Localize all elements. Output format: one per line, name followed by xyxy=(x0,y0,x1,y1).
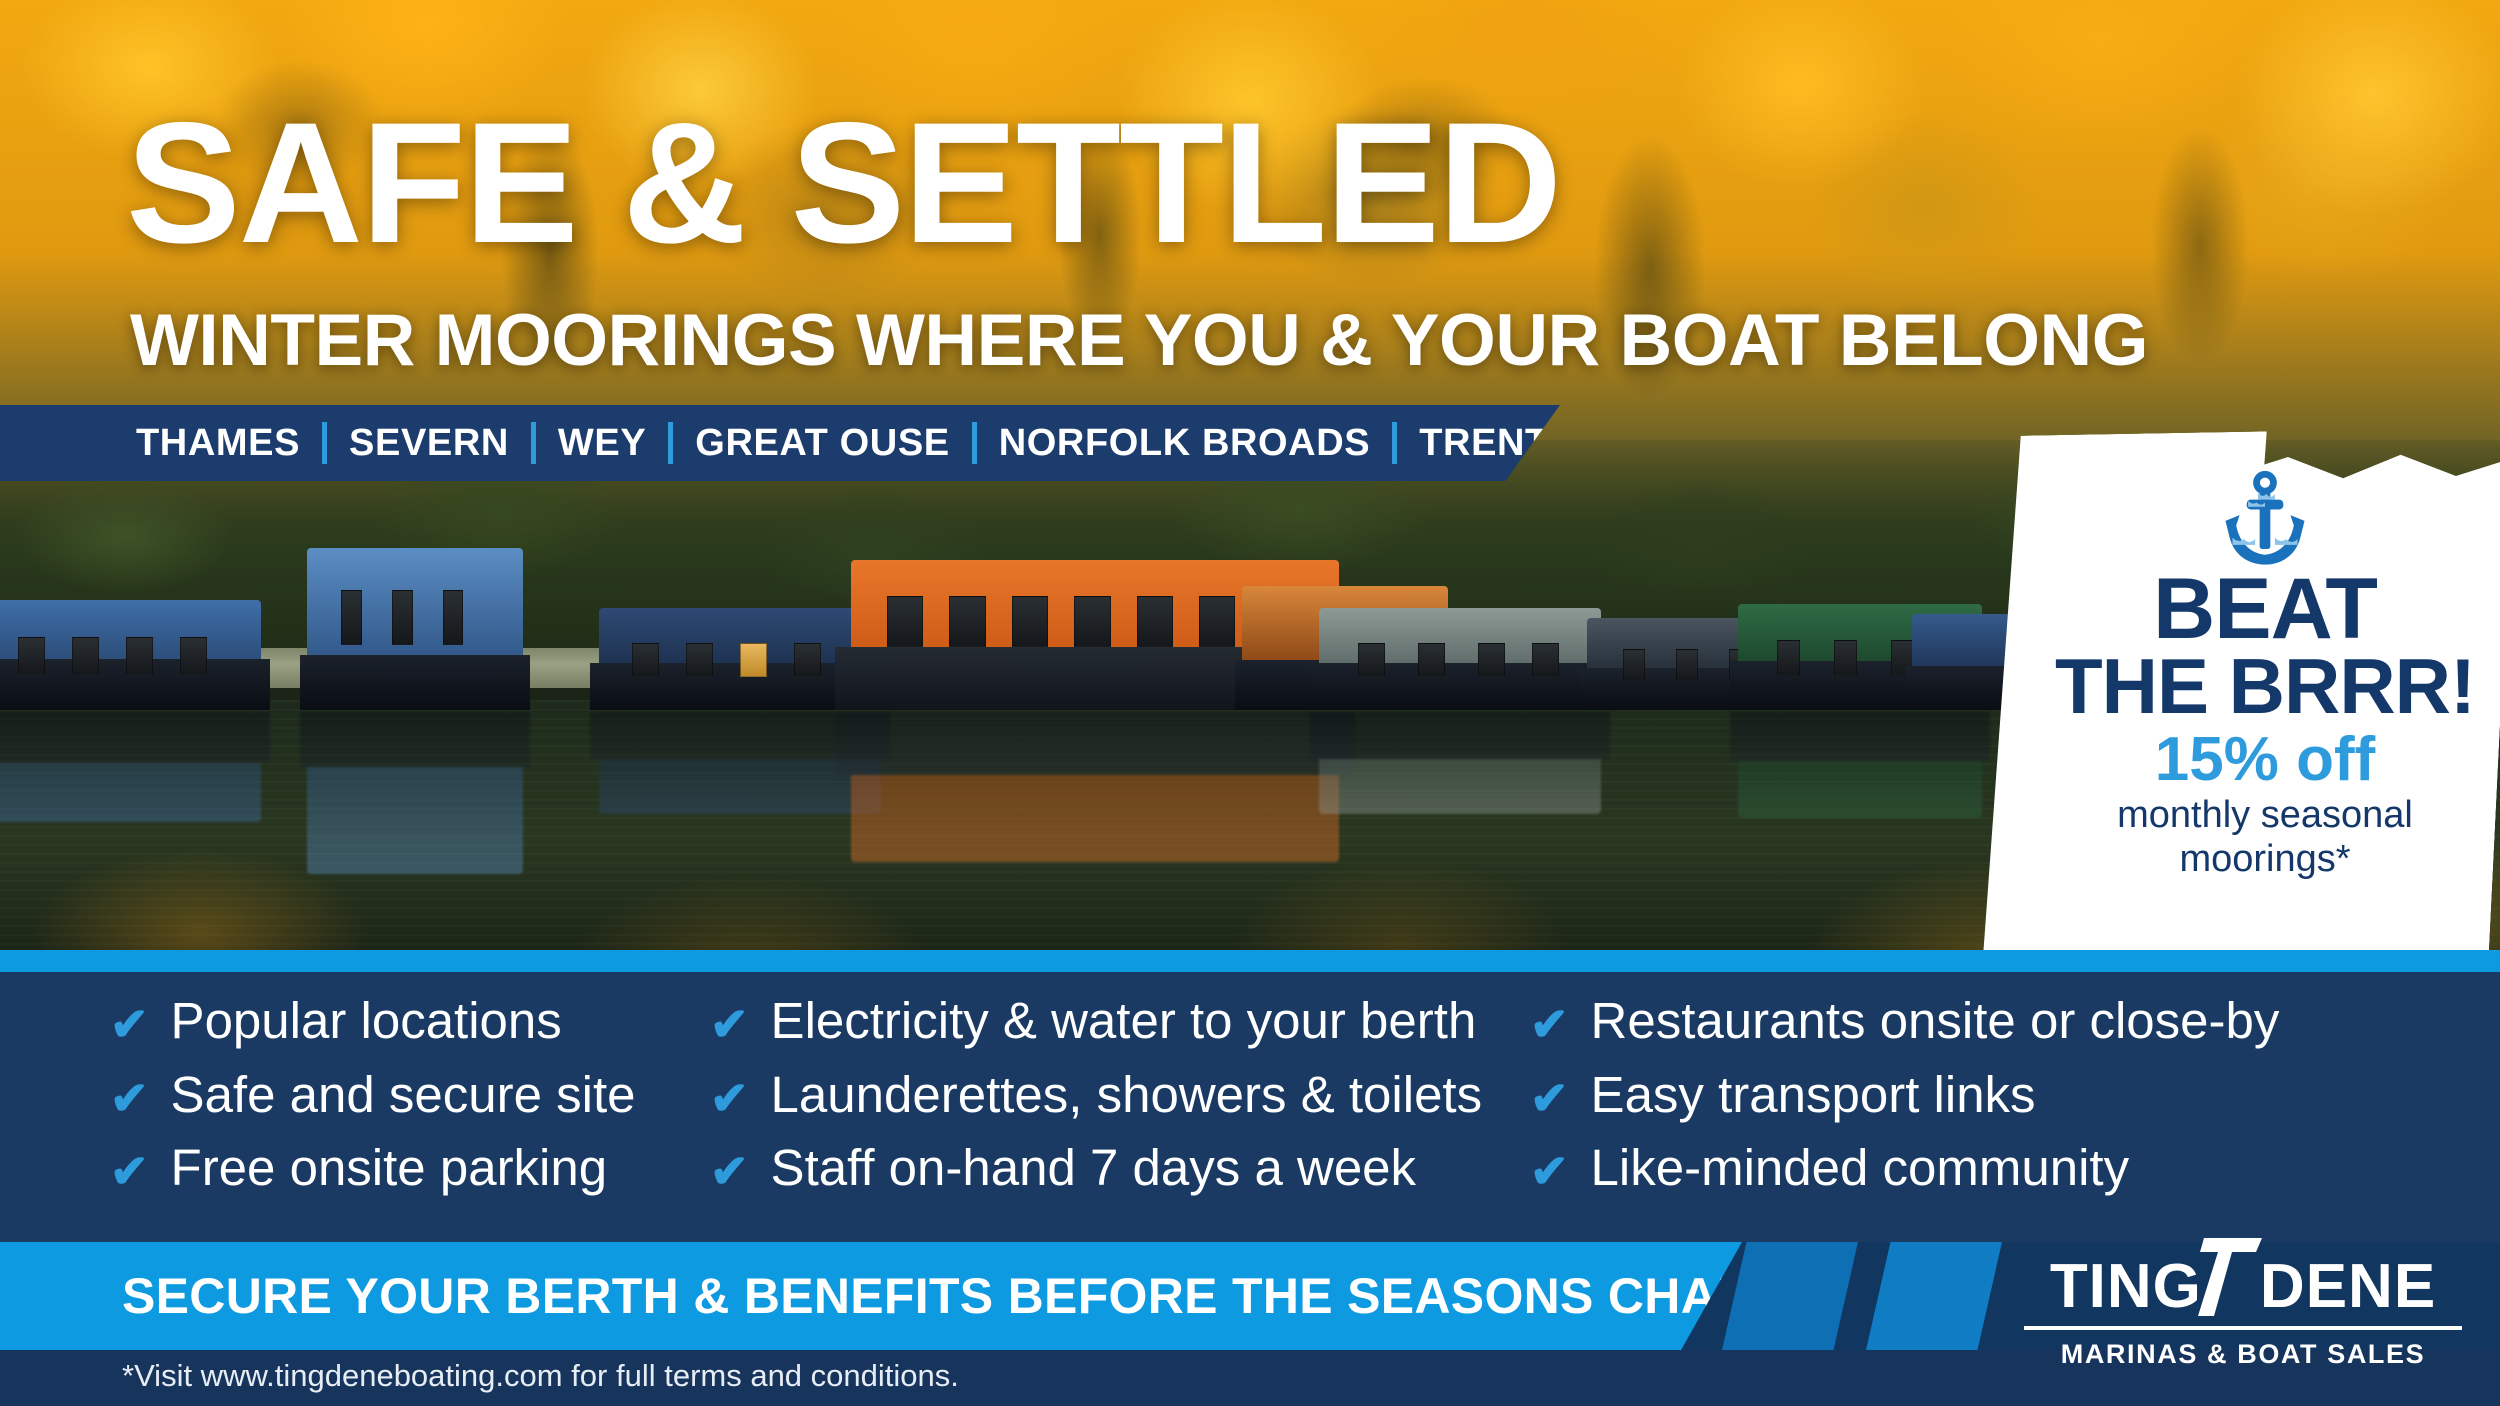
terms-footnote: *Visit www.tingdeneboating.com for full … xyxy=(122,1358,959,1394)
benefit-item: ✔ Electricity & water to your berth xyxy=(710,994,1530,1048)
benefits-grid: ✔ Popular locations ✔ Electricity & wate… xyxy=(110,994,2440,1195)
tingdene-t-mark-icon xyxy=(2198,1238,2262,1316)
offer-discount: 15% off xyxy=(2155,727,2375,792)
benefit-item: ✔ Easy transport links xyxy=(1530,1068,2290,1122)
check-icon: ✔ xyxy=(1530,1148,1569,1194)
location-divider xyxy=(668,422,673,464)
locations-bar: THAMES SEVERN WEY GREAT OUSE NORFOLK BRO… xyxy=(0,405,1560,481)
benefit-label: Restaurants onsite or close-by xyxy=(1591,994,2280,1048)
narrowboat-green-reflection xyxy=(1730,712,1990,818)
location-divider xyxy=(322,422,327,464)
offer-badge: BEAT THE BRRR! 15% off monthly seasonal … xyxy=(2030,452,2500,1012)
benefit-item: ✔ Free onsite parking xyxy=(110,1141,710,1195)
winter-moorings-advert: SAFE & SETTLED WINTER MOORINGS WHERE YOU… xyxy=(0,0,2500,1406)
narrowboat xyxy=(1310,608,1610,710)
narrowboat-reflection xyxy=(1310,712,1610,814)
benefit-label: Free onsite parking xyxy=(171,1141,608,1195)
check-icon: ✔ xyxy=(110,1148,149,1194)
benefit-label: Like-minded community xyxy=(1591,1141,2130,1195)
benefit-label: Launderettes, showers & toilets xyxy=(771,1068,1483,1122)
narrowboat-reflection xyxy=(0,712,270,822)
offer-headline-line2: THE BRRR! xyxy=(2055,647,2475,725)
logo-divider xyxy=(2024,1326,2462,1330)
location-thames: THAMES xyxy=(136,422,300,465)
benefit-item: ✔ Safe and secure site xyxy=(110,1068,710,1122)
brand-logo: TING DENE MARINAS & BOAT SALES xyxy=(2018,1252,2468,1368)
location-wey: WEY xyxy=(558,422,646,465)
narrowboat-orange-reflection xyxy=(835,712,1355,862)
location-divider xyxy=(531,422,536,464)
check-icon: ✔ xyxy=(710,1148,749,1194)
location-divider xyxy=(1392,422,1397,464)
check-icon: ✔ xyxy=(1530,1001,1569,1047)
benefit-label: Popular locations xyxy=(171,994,562,1048)
anchor-icon xyxy=(2219,470,2311,566)
brand-tagline: MARINAS & BOAT SALES xyxy=(2018,1339,2468,1370)
check-icon: ✔ xyxy=(710,1075,749,1121)
decorative-slant-2 xyxy=(1866,1242,2002,1350)
locations-list: THAMES SEVERN WEY GREAT OUSE NORFOLK BRO… xyxy=(0,422,1549,465)
location-divider xyxy=(972,422,977,464)
offer-headline-line1: BEAT xyxy=(2153,568,2377,651)
benefit-item: ✔ Popular locations xyxy=(110,994,710,1048)
narrowboat-reflection xyxy=(300,712,530,874)
brand-name-right: DENE xyxy=(2260,1256,2436,1318)
narrowboat xyxy=(300,548,530,710)
check-icon: ✔ xyxy=(1530,1075,1569,1121)
brand-wordmark: TING DENE xyxy=(2018,1252,2468,1318)
accent-strip xyxy=(0,950,2500,972)
page-subtitle: WINTER MOORINGS WHERE YOU & YOUR BOAT BE… xyxy=(130,304,2148,377)
page-title: SAFE & SETTLED xyxy=(126,104,1560,262)
benefit-label: Safe and secure site xyxy=(171,1068,636,1122)
benefits-panel: ✔ Popular locations ✔ Electricity & wate… xyxy=(0,972,2500,1242)
cta-label: SECURE YOUR BERTH & BENEFITS BEFORE THE … xyxy=(0,1267,1826,1325)
location-norfolk-broads: NORFOLK BROADS xyxy=(999,422,1371,465)
location-great-ouse: GREAT OUSE xyxy=(695,422,949,465)
check-icon: ✔ xyxy=(710,1001,749,1047)
offer-subtext-line2: moorings* xyxy=(2179,838,2350,881)
benefit-label: Easy transport links xyxy=(1591,1068,2036,1122)
decorative-slant-1 xyxy=(1722,1242,1858,1350)
benefit-item: ✔ Launderettes, showers & toilets xyxy=(710,1068,1530,1122)
brand-name-left: TING xyxy=(2050,1256,2202,1318)
cta-banner: SECURE YOUR BERTH & BENEFITS BEFORE THE … xyxy=(0,1242,1742,1350)
check-icon: ✔ xyxy=(110,1001,149,1047)
offer-subtext-line1: monthly seasonal xyxy=(2117,794,2413,837)
benefit-item: ✔ Staff on-hand 7 days a week xyxy=(710,1141,1530,1195)
benefit-item: ✔ Restaurants onsite or close-by xyxy=(1530,994,2290,1048)
benefit-item: ✔ Like-minded community xyxy=(1530,1141,2290,1195)
benefit-label: Electricity & water to your berth xyxy=(771,994,1477,1048)
offer-badge-content: BEAT THE BRRR! 15% off monthly seasonal … xyxy=(2030,452,2500,1012)
benefit-label: Staff on-hand 7 days a week xyxy=(771,1141,1417,1195)
location-severn: SEVERN xyxy=(349,422,509,465)
narrowboat xyxy=(0,600,270,710)
check-icon: ✔ xyxy=(110,1075,149,1121)
